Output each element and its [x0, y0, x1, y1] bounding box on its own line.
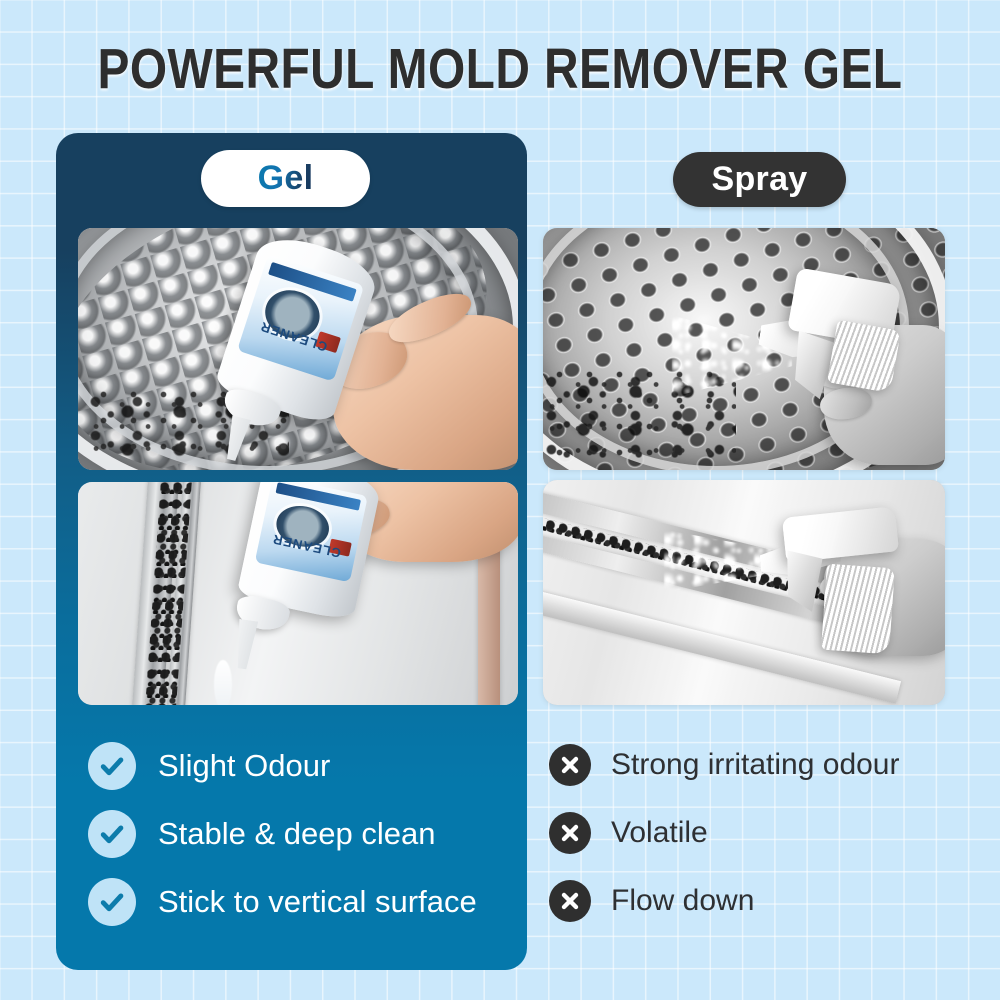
- check-icon: [88, 742, 136, 790]
- bottle-label: CLEANER: [237, 254, 364, 382]
- photo-gel-washing-machine: CLEANER: [78, 228, 518, 470]
- check-icon: [88, 878, 136, 926]
- list-item-label: Stick to vertical surface: [158, 884, 477, 920]
- badge-spray-label: Spray: [712, 160, 808, 199]
- list-item-label: Volatile: [611, 816, 708, 850]
- check-icon: [88, 810, 136, 858]
- spray-grip: [821, 563, 895, 653]
- list-item: Strong irritating odour: [549, 744, 900, 786]
- list-item-label: Flow down: [611, 884, 754, 918]
- list-item-label: Slight Odour: [158, 748, 330, 784]
- list-item: Stick to vertical surface: [88, 878, 477, 926]
- bottle-label: CLEANER: [254, 482, 368, 582]
- photo-spray-washing-machine: [543, 228, 945, 470]
- badge-gel[interactable]: Gel: [201, 150, 370, 207]
- spray-grip: [827, 320, 901, 393]
- infographic-page: POWERFUL MOLD REMOVER GEL Gel Spray: [0, 0, 1000, 1000]
- photo-spray-window-seal: [543, 480, 945, 705]
- badge-spray[interactable]: Spray: [673, 152, 846, 207]
- list-item: Slight Odour: [88, 742, 330, 790]
- photo-gel-window-seal: CLEANER: [78, 482, 518, 705]
- close-icon: [549, 812, 591, 854]
- gel-drip: [214, 660, 232, 705]
- close-icon: [549, 744, 591, 786]
- list-item-label: Stable & deep clean: [158, 816, 436, 852]
- list-item: Flow down: [549, 880, 754, 922]
- close-icon: [549, 880, 591, 922]
- list-item: Stable & deep clean: [88, 810, 436, 858]
- list-item-label: Strong irritating odour: [611, 748, 900, 782]
- page-title: POWERFUL MOLD REMOVER GEL: [80, 36, 920, 102]
- badge-gel-label: Gel: [258, 159, 314, 198]
- list-item: Volatile: [549, 812, 708, 854]
